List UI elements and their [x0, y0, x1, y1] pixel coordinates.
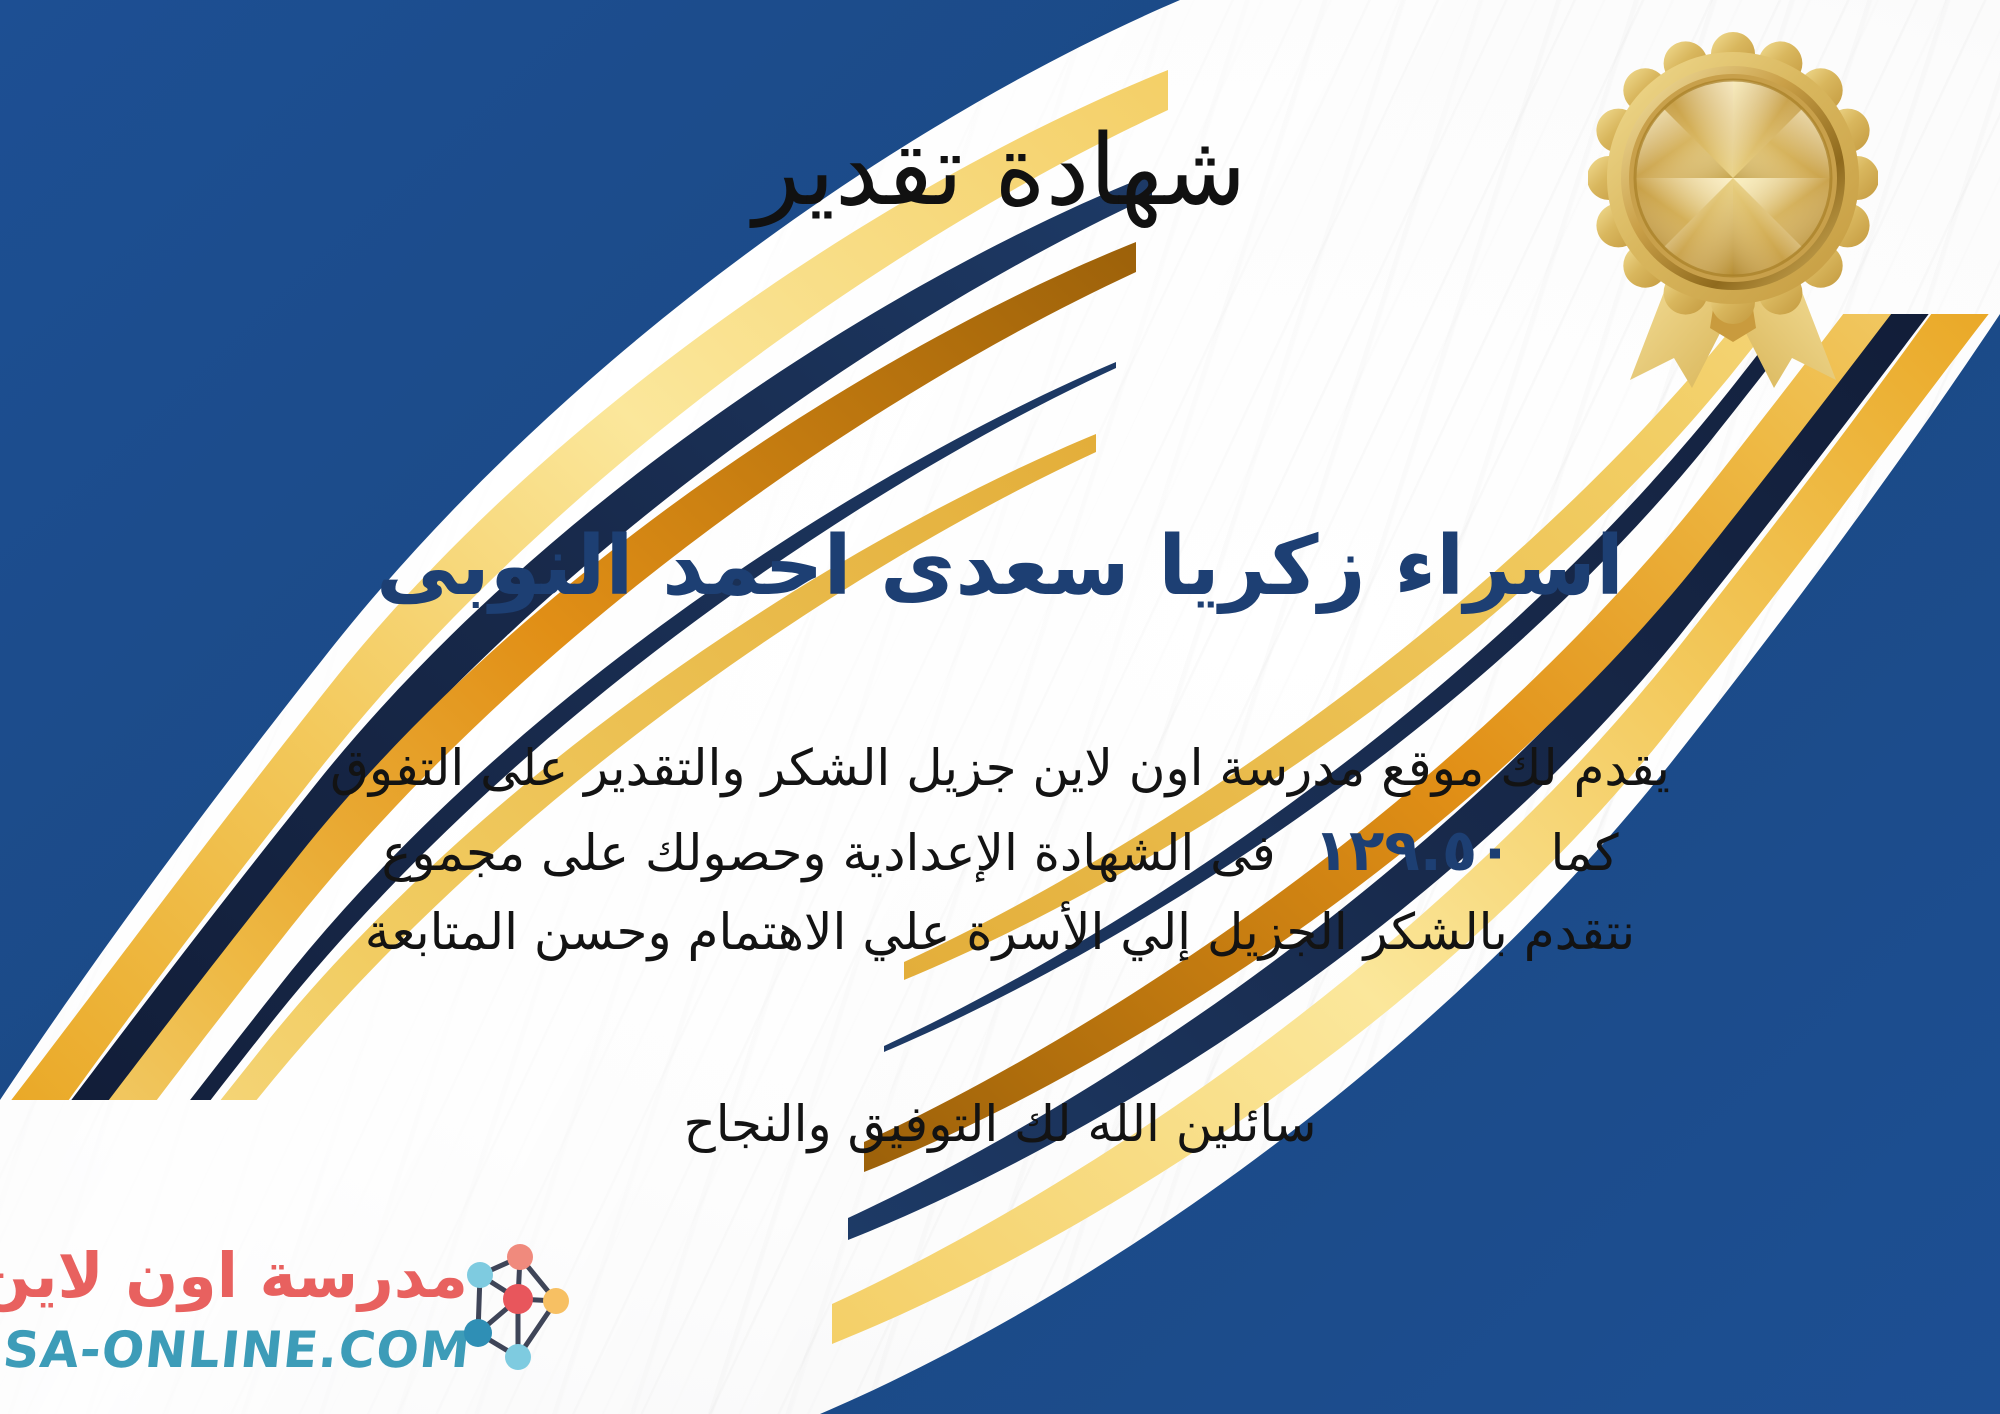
- certificate-title: شهادة تقدير: [0, 120, 2000, 223]
- site-logo[interactable]: مدرسة اون لاين MADRSA-ONLINE.COM: [18, 1231, 563, 1406]
- body-line-1: يقدم لك موقع مدرسة اون لاين جزيل الشكر و…: [40, 730, 1960, 806]
- certificate-body: يقدم لك موقع مدرسة اون لاين جزيل الشكر و…: [40, 730, 1960, 970]
- body-line-2-suffix: كما: [1551, 824, 1619, 882]
- network-nodes-icon: [458, 1237, 573, 1387]
- body-line-2: كما ١٢٩.٥٠ فى الشهادة الإعدادية وحصولك ع…: [40, 806, 1960, 894]
- logo-latin-text: MADRSA-ONLINE.COM: [0, 1321, 474, 1379]
- body-line-2-prefix: فى الشهادة الإعدادية وحصولك على مجموع: [381, 824, 1275, 882]
- recipient-name: اسراء زكريا سعدى احمد النوبى: [0, 520, 2000, 614]
- certificate-page: شهادة تقدير اسراء زكريا سعدى احمد النوبى…: [0, 0, 2000, 1414]
- score-value: ١٢٩.٥٠: [1292, 816, 1535, 884]
- closing-line: سائلين الله لك التوفيق والنجاح: [0, 1095, 2000, 1153]
- logo-arabic-text: مدرسة اون لاين: [0, 1239, 468, 1312]
- body-line-3: نتقدم بالشكر الجزيل إلي الأسرة علي الاهت…: [40, 894, 1960, 970]
